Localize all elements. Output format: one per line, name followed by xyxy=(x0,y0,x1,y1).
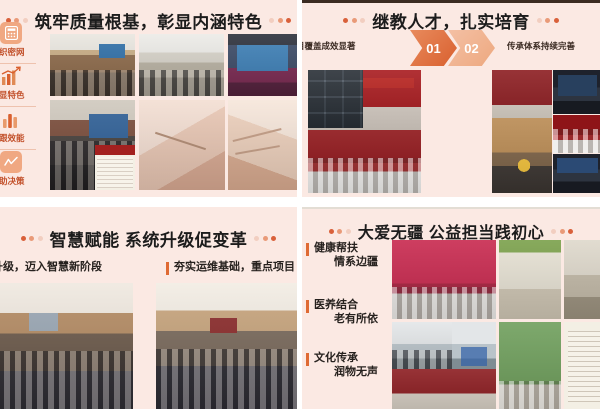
photo-boardroom-discussion xyxy=(0,283,133,409)
panel-quality-foundation: 筑牢质量根基，彰显内涵特色 体系织密网 内涵显特色 xyxy=(0,0,297,197)
photo-group-photo-white-coats xyxy=(308,130,421,193)
photo-consultation-booth xyxy=(564,240,600,319)
panel-talent-cultivation: 继教人才，扎实培育 目覆盖成效显著 01 02 传承体系持续完善 xyxy=(302,0,600,197)
photo-online-meeting-grid xyxy=(308,70,363,128)
panel-tr-caption-right: 传承体系持续完善 xyxy=(507,40,575,52)
photo-medical-aid-meeting xyxy=(392,240,496,319)
panel-tl-title-row: 筑牢质量根基，彰显内涵特色 xyxy=(0,8,297,33)
slide-grid: 筑牢质量根基，彰显内涵特色 体系织密网 内涵显特色 xyxy=(0,0,600,409)
panel-smart-empowerment: 智慧赋能 系统升级促变革 升级，迈入智慧新阶段 夯实运维基础，重点项目 xyxy=(0,207,297,409)
step-number-01: 01 xyxy=(426,41,440,56)
photo-meeting-round-table xyxy=(50,34,135,96)
photo-acupuncture-arm xyxy=(139,100,225,190)
caption-line1: 健康帮扶 xyxy=(314,242,358,254)
step-number-02: 02 xyxy=(464,41,478,56)
title-dots-left xyxy=(343,18,365,23)
photo-document-list xyxy=(95,145,135,190)
calculator-icon xyxy=(0,22,22,44)
rail-item-0[interactable]: 体系织密网 xyxy=(0,22,42,65)
step-arrows: 01 02 xyxy=(410,30,495,66)
caption-bar-icon xyxy=(306,353,309,366)
rail-item-2[interactable]: 服务跟效能 xyxy=(0,108,42,151)
photo-long-table-meeting xyxy=(156,283,297,409)
rail-label-1: 内涵显特色 xyxy=(0,89,25,101)
panel-bl-caption-right: 夯实运维基础，重点项目 xyxy=(166,261,295,275)
photo-hall-screen xyxy=(553,154,600,193)
photo-acupuncture-face xyxy=(228,100,297,190)
photo-award-presentation xyxy=(492,118,552,193)
caption-bar-icon xyxy=(306,300,309,313)
panel-tl-rail: 体系织密网 内涵显特色 服务跟效能 xyxy=(0,22,42,194)
rail-divider xyxy=(0,149,36,150)
title-dots-right xyxy=(537,18,559,23)
title-dots-right xyxy=(551,229,573,234)
panel-public-welfare: 大爱无疆 公益担当践初心 健康帮扶 情系边疆 医养结合 老有所依 文化传承 润物… xyxy=(302,207,600,409)
photo-green-wall-group xyxy=(499,322,561,409)
title-dots-right xyxy=(254,236,276,241)
caption-line2: 情系边疆 xyxy=(314,256,378,270)
caption-text: 健康帮扶 情系边疆 xyxy=(314,242,378,270)
panel-tr-caption-left: 目覆盖成效显著 xyxy=(302,40,356,52)
rail-divider xyxy=(0,63,36,64)
rail-label-2: 服务跟效能 xyxy=(0,132,25,144)
caption-line2: 老有所依 xyxy=(314,313,378,327)
caption-bar-icon xyxy=(166,262,169,275)
panel-bl-title-row: 智慧赋能 系统升级促变革 xyxy=(0,226,297,251)
photo-classroom-training xyxy=(139,34,224,96)
rail-label-3: 驱动助决策 xyxy=(0,175,25,187)
step-arrow-01[interactable]: 01 xyxy=(410,30,457,66)
caption-text: 文化传承 润物无声 xyxy=(314,352,378,380)
rail-item-1[interactable]: 内涵显特色 xyxy=(0,65,42,108)
panel-bl-caption-left: 升级，迈入智慧新阶段 xyxy=(0,261,102,275)
photo-conference-stage xyxy=(553,70,600,114)
panel-bl-title: 智慧赋能 系统升级促变革 xyxy=(50,226,248,251)
caption-text: 升级，迈入智慧新阶段 xyxy=(0,261,102,275)
caption-line2: 润物无声 xyxy=(314,366,378,380)
rail-item-3[interactable]: 驱动助决策 xyxy=(0,151,42,194)
bar-chart-icon xyxy=(0,108,22,130)
trend-up-bar-icon xyxy=(0,65,22,87)
caption-bar-icon xyxy=(306,243,309,256)
line-chart-icon xyxy=(0,151,22,173)
photo-outdoor-tent-clinic xyxy=(499,240,561,319)
panel-tl-title: 筑牢质量根基，彰显内涵特色 xyxy=(35,8,263,33)
rail-divider xyxy=(0,106,36,107)
caption-line1: 医养结合 xyxy=(314,299,358,311)
photo-bleed-strip xyxy=(302,0,600,3)
photo-bleed-strip xyxy=(302,207,600,209)
panel-br-caption-2: 文化传承 润物无声 xyxy=(306,352,378,380)
panel-br-caption-1: 医养结合 老有所依 xyxy=(306,299,378,327)
photo-certificate-document xyxy=(564,322,600,409)
caption-line1: 文化传承 xyxy=(314,352,358,364)
photo-auditorium-presentation xyxy=(228,34,297,96)
photo-group-standing xyxy=(553,115,600,153)
panel-br-caption-0: 健康帮扶 情系边疆 xyxy=(306,242,378,270)
caption-text: 医养结合 老有所依 xyxy=(314,299,378,327)
rail-label-0: 体系织密网 xyxy=(0,46,25,58)
title-dots-right xyxy=(269,18,291,23)
caption-text: 夯实运维基础，重点项目 xyxy=(174,261,295,275)
photo-award-banner xyxy=(392,369,496,409)
title-dots-left xyxy=(21,236,43,241)
title-dots-left xyxy=(329,229,351,234)
